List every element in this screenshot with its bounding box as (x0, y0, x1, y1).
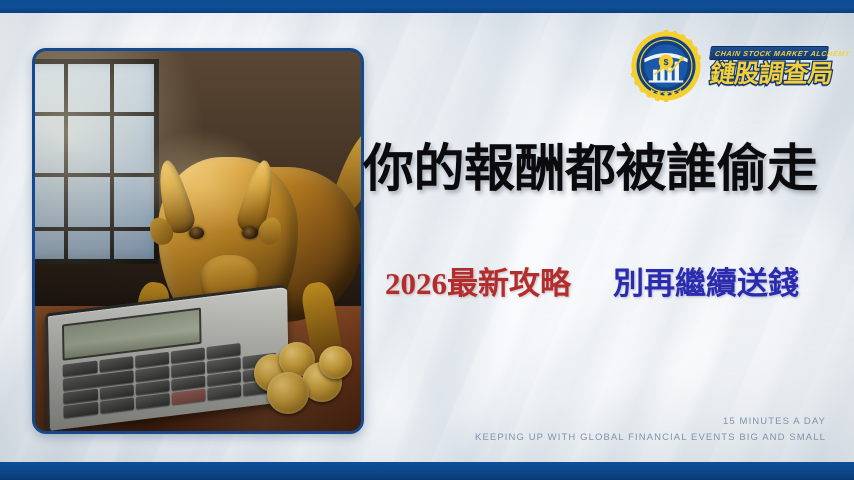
hero-photo-frame (32, 48, 364, 434)
brand-wordmark: CHAIN STOCK MARKET ALCHEMY 鏈股調查局 (710, 46, 828, 87)
bottom-brand-bar (0, 462, 854, 480)
tagline: 15 MINUTES A DAY KEEPING UP WITH GLOBAL … (475, 414, 826, 447)
subtitle-right: 別再繼續送錢 (613, 258, 799, 303)
subtitle-row: 2026最新攻略 別再繼續送錢 (385, 258, 835, 303)
hero-photo (35, 51, 361, 431)
thumbnail-canvas: $ CHAIN STOCK MARKET ALCHEMY 鏈股調查局 你的報酬 (0, 0, 854, 480)
top-brand-bar (0, 0, 854, 13)
svg-text:$: $ (664, 57, 669, 67)
brand-logo[interactable]: $ CHAIN STOCK MARKET ALCHEMY 鏈股調查局 (630, 30, 828, 102)
tagline-line-2: KEEPING UP WITH GLOBAL FINANCIAL EVENTS … (475, 430, 826, 447)
tagline-line-1: 15 MINUTES A DAY (475, 414, 826, 431)
photo-coins (250, 332, 354, 416)
subtitle-left: 2026最新攻略 (385, 258, 571, 303)
page-title: 你的報酬都被誰偷走 (363, 143, 845, 194)
brand-banner-text: CHAIN STOCK MARKET ALCHEMY (709, 46, 829, 60)
brand-name-cn: 鏈股調查局 (708, 62, 830, 87)
chart-badge-icon: $ (630, 30, 702, 102)
